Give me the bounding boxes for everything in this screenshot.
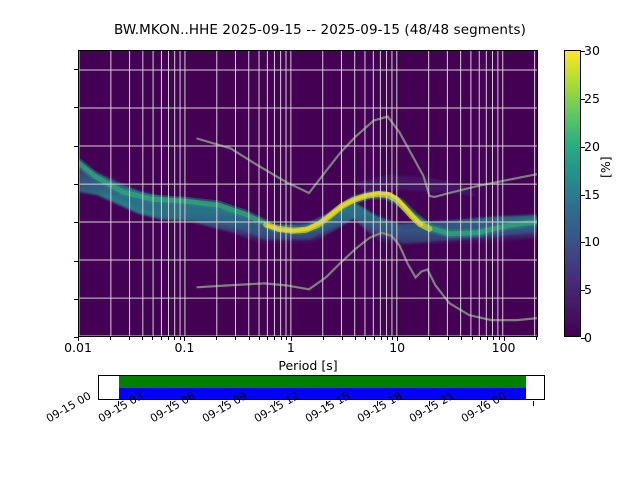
- ppsd-heatmap: [79, 51, 537, 336]
- timeline-tick-label: 09-15 00: [44, 389, 93, 425]
- colorbar-tick-label: 25: [584, 93, 600, 106]
- ppsd-axes: [78, 50, 538, 337]
- x-axis-label: Period [s]: [78, 358, 538, 373]
- y-tick-mark: [74, 261, 78, 262]
- x-tick-label: 0.01: [38, 340, 118, 355]
- x-tick-mark: [291, 337, 292, 341]
- x-tick-label: 1: [251, 340, 331, 355]
- page-title: BW.MKON..HHE 2025-09-15 -- 2025-09-15 (4…: [0, 22, 640, 38]
- y-tick-mark: [74, 69, 78, 70]
- x-tick-mark: [397, 337, 398, 341]
- colorbar-label: [%]: [598, 156, 613, 178]
- colorbar-tick-label: 30: [584, 45, 600, 58]
- colorbar-tick-label: 10: [584, 236, 600, 249]
- x-tick-label: 10: [357, 340, 437, 355]
- segment-timeline[interactable]: [98, 375, 545, 400]
- x-tick-mark: [504, 337, 505, 341]
- colorbar-tick-label: 20: [584, 141, 600, 154]
- y-tick-mark: [74, 222, 78, 223]
- x-tick-mark: [78, 337, 79, 341]
- timeline-bar-data: [119, 376, 526, 388]
- colorbar: [564, 50, 581, 337]
- y-tick-mark: [74, 146, 78, 147]
- x-tick-label: 100: [464, 340, 544, 355]
- y-tick-mark: [74, 107, 78, 108]
- colorbar-tick-label: 15: [584, 189, 600, 202]
- x-tick-mark: [184, 337, 185, 341]
- colorbar-tick-label: 5: [584, 284, 592, 297]
- y-tick-mark: [74, 184, 78, 185]
- colorbar-tick-label: 0: [584, 332, 592, 345]
- y-tick-mark: [74, 299, 78, 300]
- x-tick-label: 0.1: [144, 340, 224, 355]
- pixel-grain: [79, 150, 537, 259]
